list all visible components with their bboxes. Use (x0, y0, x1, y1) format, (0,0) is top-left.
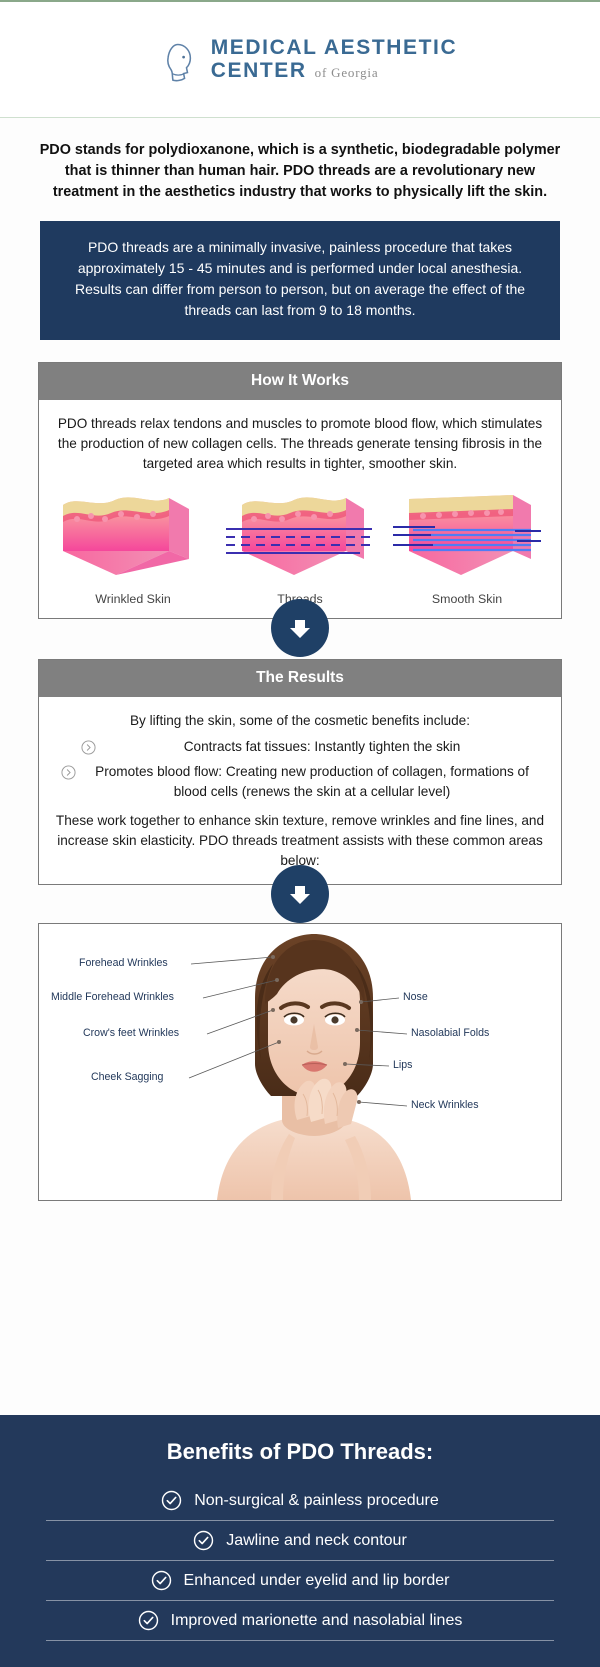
brand-line-2: CENTER (211, 60, 307, 82)
down-arrow-circle-icon (271, 599, 329, 657)
skin-diagram-wrinkled: Wrinkled Skin (57, 489, 209, 606)
results-title: The Results (39, 660, 561, 697)
callout-box: PDO threads are a minimally invasive, pa… (40, 221, 560, 340)
results-card: The Results By lifting the skin, some of… (38, 659, 562, 885)
intro-paragraph: PDO stands for polydioxanone, which is a… (38, 140, 562, 203)
benefit-item-2: Jawline and neck contour (34, 1521, 566, 1560)
brand-line-1: MEDICAL AESTHETIC (211, 37, 458, 59)
benefit-divider-4 (46, 1640, 554, 1641)
results-bullet-1-text: Contracts fat tissues: Instantly tighten… (105, 737, 539, 757)
woman-profile-crescent-logo-icon (143, 31, 201, 89)
arrow-down-1 (0, 599, 600, 657)
brand-suffix: of Georgia (315, 66, 379, 80)
face-label-middle-forehead-wrinkles: Middle Forehead Wrinkles (51, 991, 174, 1003)
how-it-works-paragraph: PDO threads relax tendons and muscles to… (55, 414, 545, 475)
results-tail: These work together to enhance skin text… (55, 811, 545, 872)
face-label-lips: Lips (393, 1059, 412, 1071)
chevron-down-icon (285, 613, 315, 643)
benefit-item-3-text: Enhanced under eyelid and lip border (184, 1572, 450, 1590)
arrow-down-2 (0, 865, 600, 923)
skin-diagram-smooth: Smooth Skin (391, 489, 543, 606)
skin-block-threads-icon (224, 489, 376, 581)
results-bullet-1: Contracts fat tissues: Instantly tighten… (55, 737, 545, 757)
results-bullet-2-text: Promotes blood flow: Creating new produc… (85, 762, 539, 802)
circled-check-icon (161, 1490, 182, 1511)
benefit-item-3: Enhanced under eyelid and lip border (34, 1561, 566, 1600)
face-label-nasolabial-folds: Nasolabial Folds (411, 1027, 489, 1039)
brand-logo[interactable]: MEDICAL AESTHETIC CENTER of Georgia (143, 31, 458, 89)
benefits-section: Benefits of PDO Threads: Non-surgical & … (0, 1415, 600, 1667)
benefit-item-1-text: Non-surgical & painless procedure (194, 1492, 439, 1510)
skin-diagram-threads: Threads (224, 489, 376, 606)
how-it-works-card: How It Works PDO threads relax tendons a… (38, 362, 562, 619)
results-bullet-2: Promotes blood flow: Creating new produc… (55, 762, 545, 802)
skin-block-smooth-icon (391, 489, 543, 581)
face-label-forehead-wrinkles: Forehead Wrinkles (79, 957, 168, 969)
benefit-item-1: Non-surgical & painless procedure (34, 1481, 566, 1520)
results-lead: By lifting the skin, some of the cosmeti… (55, 711, 545, 731)
infographic-page: MEDICAL AESTHETIC CENTER of Georgia PDO … (0, 0, 600, 1667)
circled-chevron-right-icon (61, 765, 76, 780)
circled-check-icon (193, 1530, 214, 1551)
benefit-item-4-text: Improved marionette and nasolabial lines (171, 1612, 463, 1630)
face-label-crows-feet-wrinkles: Crow's feet Wrinkles (83, 1027, 179, 1039)
benefits-title: Benefits of PDO Threads: (34, 1439, 566, 1465)
skin-block-wrinkled-icon (57, 489, 209, 581)
face-label-neck-wrinkles: Neck Wrinkles (411, 1099, 479, 1111)
benefit-item-4: Improved marionette and nasolabial lines (34, 1601, 566, 1640)
down-arrow-circle-icon (271, 865, 329, 923)
circled-check-icon (138, 1610, 159, 1631)
face-diagram-card: Forehead Wrinkles Middle Forehead Wrinkl… (38, 923, 562, 1201)
face-label-cheek-sagging: Cheek Sagging (91, 1071, 163, 1083)
how-it-works-title: How It Works (39, 363, 561, 400)
circled-chevron-right-icon (81, 740, 96, 755)
skin-diagram-row: Wrinkled Skin (55, 489, 545, 606)
site-header: MEDICAL AESTHETIC CENTER of Georgia (0, 0, 600, 118)
face-label-nose: Nose (403, 991, 428, 1003)
benefit-item-2-text: Jawline and neck contour (226, 1532, 407, 1550)
chevron-down-icon (285, 879, 315, 909)
circled-check-icon (151, 1570, 172, 1591)
